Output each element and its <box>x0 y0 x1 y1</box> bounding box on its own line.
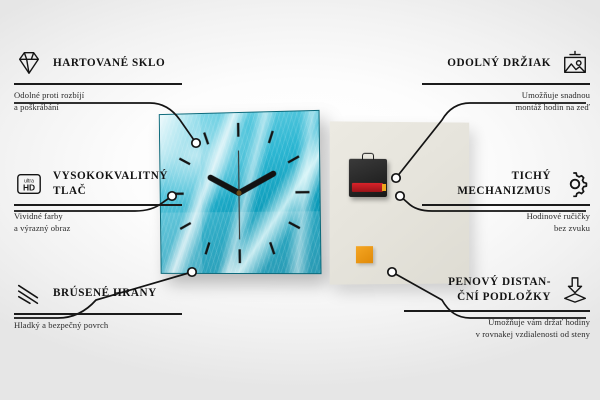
infographic-canvas: HARTOVANÉ SKLO Odolné proti rozbíjí a po… <box>0 0 600 400</box>
feature-description: Hodinové ručičky bez zvuku <box>422 210 590 236</box>
feature-description: Umožňuje snadnou montáž hodin na zeď <box>422 89 590 115</box>
gear-icon <box>560 170 590 198</box>
feature-description: Hladký a bezpečný povrch <box>14 319 182 332</box>
desc-line-1: Umožňuje snadnou <box>422 89 590 102</box>
feature-title-line-1: PENOVÝ DISTAN- <box>448 275 551 290</box>
polished-edges-icon <box>14 279 44 307</box>
desc-line-1: Umožňuje vám držať hodiny <box>404 316 590 329</box>
feature-header: ultra HD VYSOKOKVALITNÝ TLAČ <box>14 167 182 201</box>
feature-title: ODOLNÝ DRŽIAK <box>447 56 551 71</box>
diamond-icon <box>14 49 44 77</box>
feature-title: BRÚSENÉ HRANY <box>53 286 157 301</box>
desc-line-1: Hodinové ručičky <box>422 210 590 223</box>
feature-header: ODOLNÝ DRŽIAK <box>422 46 590 80</box>
divider <box>14 313 182 315</box>
feature-title: PENOVÝ DISTAN- ČNÍ PODLOŽKY <box>448 275 551 305</box>
divider <box>404 310 590 312</box>
badge-text-bottom: HD <box>23 183 35 193</box>
feature-polished-edges[interactable]: BRÚSENÉ HRANY Hladký a bezpečný povrch <box>14 276 182 331</box>
feature-header: TICHÝ MECHANIZMUS <box>422 167 590 201</box>
clock-hands <box>160 111 321 273</box>
desc-line-1: Hladký a bezpečný povrch <box>14 319 182 332</box>
feature-header: BRÚSENÉ HRANY <box>14 276 182 310</box>
feature-title: HARTOVANÉ SKLO <box>53 56 165 71</box>
feature-hardened-glass[interactable]: HARTOVANÉ SKLO Odolné proti rozbíjí a po… <box>14 46 182 114</box>
hanger-bracket-icon <box>362 153 374 160</box>
quartz-mechanism <box>349 159 387 197</box>
feature-header: HARTOVANÉ SKLO <box>14 46 182 80</box>
feature-description: Vividné farby a výrazný obraz <box>14 210 182 236</box>
feature-title-line-2: ČNÍ PODLOŽKY <box>448 290 551 305</box>
desc-line-2: montáž hodin na zeď <box>422 101 590 114</box>
hour-hand <box>211 177 239 193</box>
divider <box>14 83 182 85</box>
divider <box>422 204 590 206</box>
desc-line-2: v rovnakej vzdialenosti od steny <box>404 328 590 341</box>
desc-line-2: bez zvuku <box>422 222 590 235</box>
desc-line-2: a výrazný obraz <box>14 222 182 235</box>
ultra-hd-badge-icon: ultra HD <box>14 170 44 198</box>
clock-front-face <box>159 110 322 274</box>
foam-spacer-icon <box>560 276 590 304</box>
feature-durable-hanger[interactable]: ODOLNÝ DRŽIAK Umožňuje snadnou montáž ho… <box>422 46 590 114</box>
feature-title: VYSOKOKVALITNÝ TLAČ <box>53 169 182 199</box>
minute-hand <box>239 174 274 193</box>
desc-line-1: Odolné proti rozbíjí <box>14 89 182 102</box>
desc-line-2: a poškrábání <box>14 101 182 114</box>
desc-line-1: Vividné farby <box>14 210 182 223</box>
feature-header: PENOVÝ DISTAN- ČNÍ PODLOŽKY <box>404 273 590 307</box>
feature-hd-print[interactable]: ultra HD VYSOKOKVALITNÝ TLAČ Vividné far… <box>14 167 182 235</box>
foam-spacer-pad <box>356 246 373 263</box>
divider <box>14 204 182 206</box>
feature-description: Umožňuje vám držať hodiny v rovnakej vzd… <box>404 316 590 342</box>
feature-description: Odolné proti rozbíjí a poškrábání <box>14 89 182 115</box>
battery <box>352 183 383 192</box>
feature-title: TICHÝ MECHANIZMUS <box>422 169 551 199</box>
picture-hanger-icon <box>560 49 590 77</box>
feature-silent-mechanism[interactable]: TICHÝ MECHANIZMUS Hodinové ručičky bez z… <box>422 167 590 235</box>
feature-foam-spacers[interactable]: PENOVÝ DISTAN- ČNÍ PODLOŽKY Umožňuje vám… <box>404 273 590 341</box>
divider <box>422 83 590 85</box>
